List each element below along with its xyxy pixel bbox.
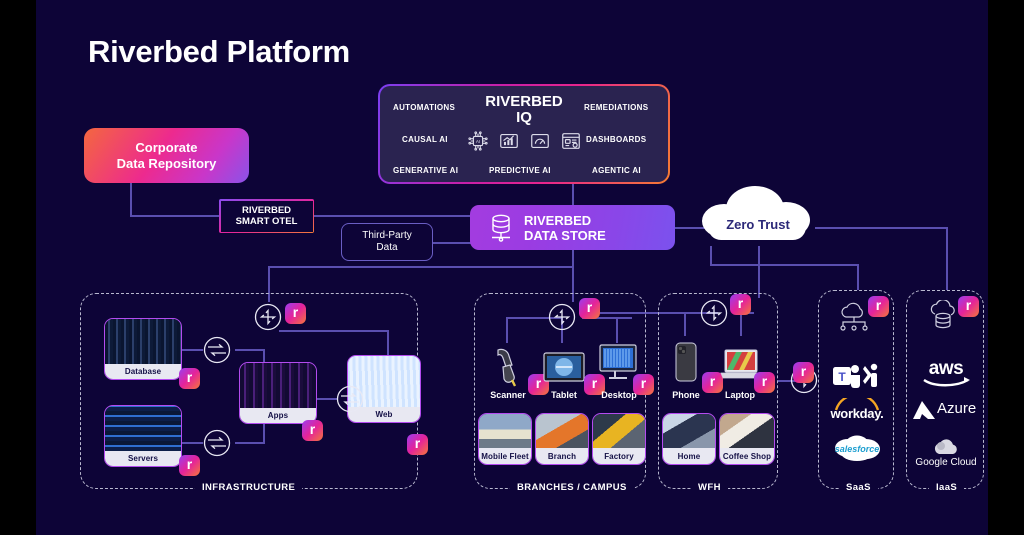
tile-caption: Home (663, 448, 715, 464)
wire-zt-saas (710, 264, 858, 266)
third-line2: Data (376, 242, 397, 253)
r-badge[interactable]: r (754, 372, 775, 393)
r-badge[interactable]: r (793, 362, 814, 383)
otel-line2: SMART OTEL (236, 216, 298, 227)
logo-aws: aws (916, 358, 976, 388)
tile-caption: Servers (105, 451, 181, 466)
tile-caption: Factory (593, 448, 645, 464)
tile-caption: Mobile Fleet (479, 448, 531, 464)
r-badge[interactable]: r (302, 420, 323, 441)
wire-apps-switch3 (317, 398, 337, 400)
database-photo (105, 319, 181, 364)
wire-desktop-v (616, 317, 618, 343)
logo-salesforce: salesforce (826, 435, 888, 463)
zone-label-iaas: IaaS (929, 482, 964, 493)
zero-trust-label: Zero Trust (700, 217, 816, 232)
zone-label-infrastructure: INFRASTRUCTURE (195, 482, 302, 493)
riverbed-data-store[interactable]: RIVERBED DATA STORE (470, 205, 675, 250)
r-badge[interactable]: r (179, 368, 200, 389)
iq-label-agentic-ai: AGENTIC AI (592, 166, 641, 175)
otel-line1: RIVERBED (242, 205, 291, 216)
coffee-shop-photo (720, 414, 774, 449)
r-badge[interactable]: r (633, 374, 654, 395)
barcode-scanner-icon[interactable] (488, 345, 524, 387)
wire-otel-store (314, 215, 470, 217)
smartphone-icon[interactable] (675, 342, 697, 382)
device-label-scanner: Scanner (486, 390, 530, 400)
store-text: RIVERBED DATA STORE (524, 213, 606, 243)
wire-store-down (572, 250, 574, 292)
zero-trust-cloud[interactable]: Zero Trust (700, 184, 816, 246)
iq-label-generative-ai: GENERATIVE AI (393, 166, 458, 175)
branch-photo (536, 414, 588, 449)
riverbed-smart-otel[interactable]: RIVERBED SMART OTEL (219, 199, 314, 233)
tile-database[interactable]: Database (104, 318, 182, 380)
r-badge[interactable]: r (579, 298, 600, 319)
tile-factory[interactable]: Factory (592, 413, 646, 465)
r-badge[interactable]: r (285, 303, 306, 324)
device-label-tablet: Tablet (542, 390, 586, 400)
third-party-data[interactable]: Third-Party Data (341, 223, 433, 261)
router-icon[interactable] (699, 298, 729, 328)
iq-icon-row: AI (380, 130, 668, 152)
wire-phone-v (684, 312, 686, 336)
wire-saas-down (857, 264, 859, 290)
tile-caption: Database (105, 364, 181, 379)
zone-label-saas: SaaS (839, 482, 878, 493)
wire-db-switch (181, 349, 203, 351)
logo-teams-jira: T (829, 362, 885, 392)
wire-corp-otel (130, 215, 220, 217)
iq-label-predictive-ai: PREDICTIVE AI (489, 166, 551, 175)
wire-corp-down (130, 183, 132, 216)
diagram-canvas: Riverbed Platform (36, 0, 988, 535)
gauge-icon (529, 130, 551, 152)
tile-branch[interactable]: Branch (535, 413, 589, 465)
switch-icon[interactable] (202, 335, 232, 365)
iq-label-remediations: REMEDIATIONS (584, 103, 648, 112)
store-line1: RIVERBED (524, 213, 591, 228)
wire-srv-switch (181, 442, 203, 444)
third-line1: Third-Party (362, 230, 411, 241)
r-badge[interactable]: r (868, 296, 889, 317)
dashboard-gear-icon (560, 130, 582, 152)
tile-home[interactable]: Home (662, 413, 716, 465)
svg-text:AI: AI (475, 139, 479, 144)
tile-caption: Branch (536, 448, 588, 464)
store-line2: DATA STORE (524, 228, 606, 243)
corp-line1: Corporate (135, 140, 197, 155)
tile-mobile-fleet[interactable]: Mobile Fleet (478, 413, 532, 465)
tile-caption: Coffee Shop (720, 448, 774, 464)
tile-apps[interactable]: Apps (239, 362, 317, 424)
router-icon[interactable] (253, 302, 283, 332)
wire-iaas-down (946, 227, 948, 290)
servers-photo (105, 406, 181, 451)
wire-zt-right (815, 227, 948, 229)
mobile-fleet-photo (479, 414, 531, 449)
letterbox-right (988, 0, 1024, 535)
database-icon (488, 213, 514, 243)
r-badge[interactable]: r (958, 296, 979, 317)
desktop-monitor-icon[interactable] (598, 343, 638, 383)
cloud-network-icon (836, 300, 872, 334)
ai-chip-icon: AI (467, 130, 489, 152)
svg-text:T: T (838, 370, 846, 384)
diagram-stage: Riverbed Platform (0, 0, 1024, 535)
wire-laptop-v (740, 312, 742, 336)
wire-bus-left (268, 266, 574, 268)
page-title: Riverbed Platform (88, 34, 350, 70)
factory-photo (593, 414, 645, 449)
zone-label-wfh: WFH (691, 482, 728, 493)
zone-label-branches-campus: BRANCHES / CAMPUS (510, 482, 634, 493)
wire-switch-apps-h (235, 349, 265, 351)
wire-switch-apps2-h (235, 442, 265, 444)
tablet-icon[interactable] (543, 352, 585, 382)
tile-coffee-shop[interactable]: Coffee Shop (719, 413, 775, 465)
r-badge[interactable]: r (407, 434, 428, 455)
corporate-data-repository[interactable]: Corporate Data Repository (84, 128, 249, 183)
wire-zt-wfh (758, 246, 760, 298)
riverbed-iq-panel[interactable]: RIVERBEDIQ AUTOMATIONS CAUSAL AI GENERAT… (378, 84, 670, 184)
logo-workday: workday. (822, 398, 892, 424)
tile-servers[interactable]: Servers (104, 405, 182, 467)
iq-label-automations: AUTOMATIONS (393, 103, 455, 112)
r-badge[interactable]: r (730, 294, 751, 315)
apps-photo (240, 363, 316, 408)
router-icon[interactable] (547, 302, 577, 332)
device-label-phone: Phone (665, 390, 707, 400)
corp-line2: Data Repository (117, 156, 217, 171)
logo-azure: Azure (912, 398, 980, 424)
home-photo (663, 414, 715, 449)
logo-google-cloud: Google Cloud (910, 436, 982, 468)
switch-icon[interactable] (335, 384, 365, 414)
wire-scanner-v (506, 317, 508, 343)
wire-iq-store (572, 184, 574, 206)
r-badge[interactable]: r (179, 455, 200, 476)
bar-chart-icon (498, 130, 520, 152)
switch-icon[interactable] (202, 428, 232, 458)
wire-zt-left-down (710, 246, 712, 266)
letterbox-left (0, 0, 36, 535)
wire-third-store (433, 242, 471, 244)
wire-router-web-h (279, 330, 389, 332)
